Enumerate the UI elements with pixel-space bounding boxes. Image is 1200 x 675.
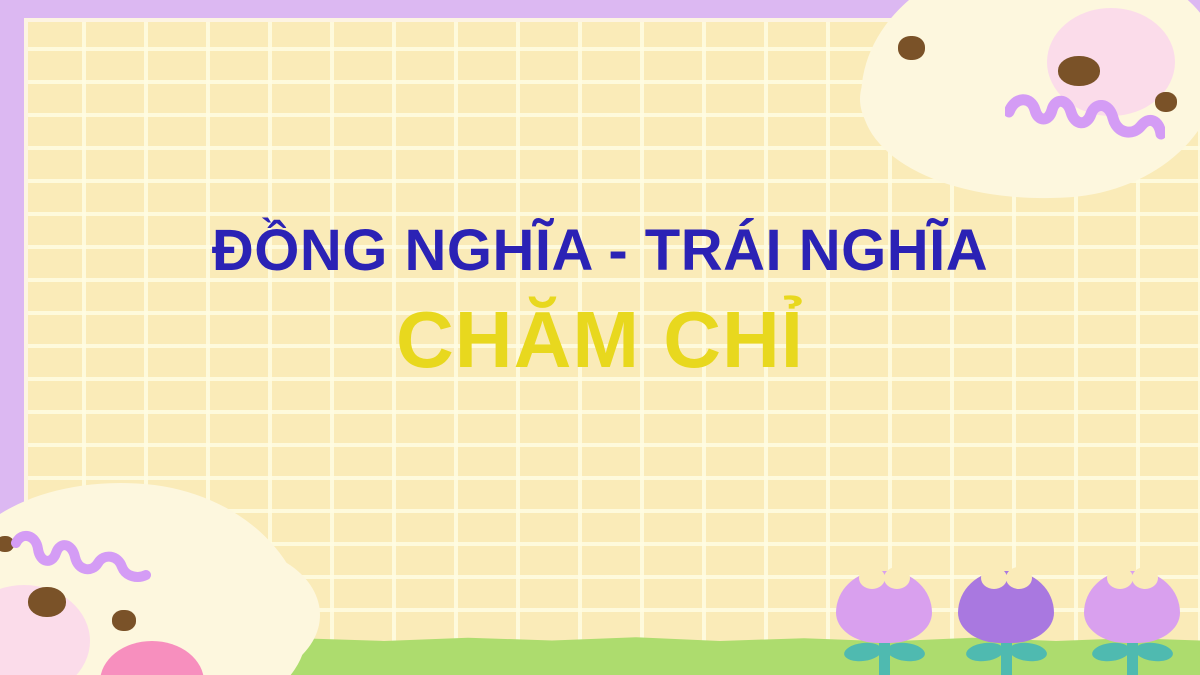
leaf-icon (1008, 641, 1048, 663)
tulip-flower (836, 571, 932, 675)
petal-notch-icon (1107, 567, 1133, 589)
leaf-icon (886, 641, 926, 663)
petal-notch-icon (884, 567, 910, 589)
page-title: ĐỒNG NGHĨA - TRÁI NGHĨA (0, 222, 1200, 280)
heading-block: ĐỒNG NGHĨA - TRÁI NGHĨA CHĂM CHỈ (0, 222, 1200, 380)
page-subtitle: CHĂM CHỈ (0, 300, 1200, 380)
petal-notch-icon (1006, 567, 1032, 589)
brown-dot-icon (28, 587, 66, 617)
frame-bar-top (0, 0, 950, 18)
squiggle-icon (10, 525, 152, 587)
brown-dot-icon (112, 610, 136, 631)
petal-notch-icon (859, 567, 885, 589)
leaf-icon (1134, 641, 1174, 663)
paper-rim-top (24, 18, 950, 22)
tulip-flower (958, 571, 1054, 675)
petal-notch-icon (981, 567, 1007, 589)
petal-notch-icon (1132, 567, 1158, 589)
leaf-icon (843, 641, 883, 663)
leaf-icon (965, 641, 1005, 663)
tulip-flower (1084, 571, 1180, 675)
brown-dot-icon (898, 36, 925, 60)
slide-canvas: ĐỒNG NGHĨA - TRÁI NGHĨA CHĂM CHỈ (0, 0, 1200, 675)
squiggle-icon (1005, 78, 1165, 152)
leaf-icon (1091, 641, 1131, 663)
